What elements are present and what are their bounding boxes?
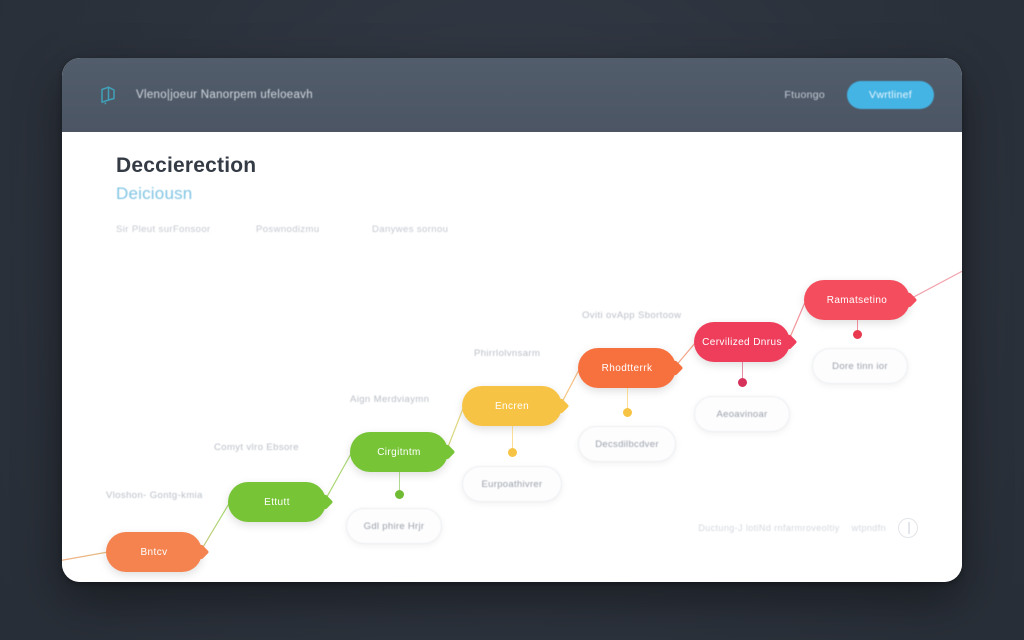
node-side-label-n2: Comyt vlro Ebsore — [214, 442, 299, 453]
roadmap-node-n5[interactable]: Rhodtterrk — [578, 348, 676, 388]
roadmap-node-n7[interactable]: Ramatsetino — [804, 280, 910, 320]
info-circle-icon[interactable] — [898, 518, 918, 538]
node-subcard-n3[interactable]: Gdl phire Hrjr — [346, 508, 442, 544]
secondary-action-button[interactable]: Ftuongo — [784, 89, 825, 101]
roadmap-node-n6[interactable]: Cervilized Dnrus — [694, 322, 790, 362]
footer-text: Ductung-J lotiNd rnfarmroveoltiy — [698, 523, 839, 533]
app-header: Vleno|joeur Nanorpem ufeloeavh Ftuongo V… — [62, 58, 962, 132]
node-subcard-n7[interactable]: Dore tinn ior — [812, 348, 908, 384]
roadmap-node-n2[interactable]: Ettutt — [228, 482, 326, 522]
roadmap-node-n4[interactable]: Encren — [462, 386, 562, 426]
node-side-label-n3: Aign Merdviaymn — [350, 394, 429, 405]
node-connector-dot-n6 — [738, 378, 747, 387]
brand: Vleno|joeur Nanorpem ufeloeavh — [96, 83, 313, 107]
node-subcard-n6[interactable]: Aeoavinoar — [694, 396, 790, 432]
node-connector-dot-n7 — [853, 330, 862, 339]
roadmap-node-n3[interactable]: Cirgitntm — [350, 432, 448, 472]
screen-root: Vleno|joeur Nanorpem ufeloeavh Ftuongo V… — [0, 0, 1024, 640]
app-window: Vleno|joeur Nanorpem ufeloeavh Ftuongo V… — [62, 58, 962, 582]
footer: Ductung-J lotiNd rnfarmroveoltiy wtpndfn — [698, 518, 918, 538]
node-subcard-n5[interactable]: Decsdilbcdver — [578, 426, 676, 462]
node-subcard-n4[interactable]: Eurpoathivrer — [462, 466, 562, 502]
node-connector-dot-n3 — [395, 490, 404, 499]
node-side-label-n4: Phirrlolvnsarm — [474, 348, 540, 359]
app-body: Deccierection Deiciousn Sir Pleut surFon… — [62, 132, 962, 582]
node-connector-dot-n4 — [508, 448, 517, 457]
node-side-label-n1: Vloshon- Gontg-kmia — [106, 490, 203, 501]
brand-title: Vleno|joeur Nanorpem ufeloeavh — [136, 89, 313, 101]
cube-logo-icon — [96, 83, 120, 107]
roadmap-node-n1[interactable]: Bntcv — [106, 532, 202, 572]
node-connector-dot-n5 — [623, 408, 632, 417]
node-side-label-n5: Oviti ovApp Sbortoow — [582, 310, 681, 321]
primary-action-button[interactable]: Vwrtlinef — [847, 81, 934, 109]
footer-meta: wtpndfn — [852, 523, 886, 533]
header-actions: Ftuongo Vwrtlinef — [784, 81, 934, 109]
